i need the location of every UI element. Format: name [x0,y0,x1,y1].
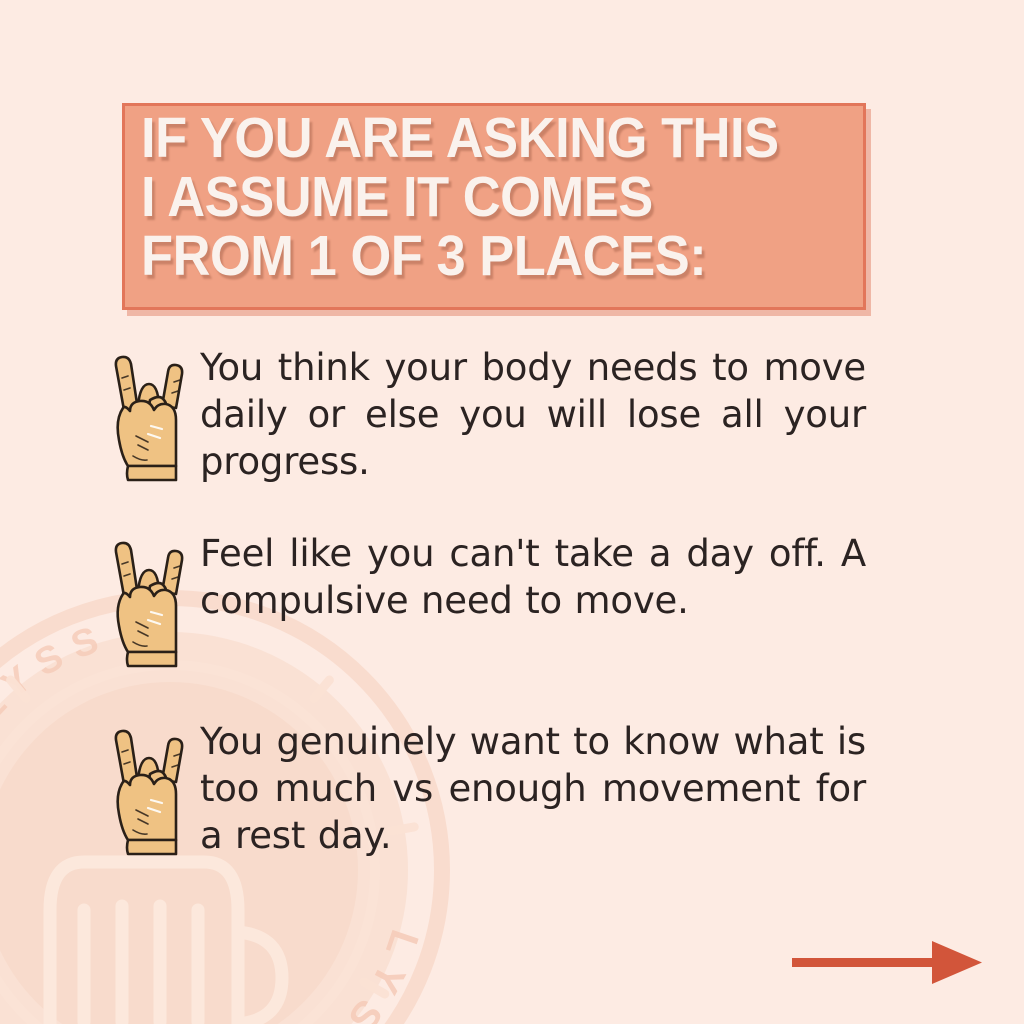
list-item-text: You genuinely want to know what is too m… [200,718,866,859]
sign-of-the-horns-icon [104,534,200,674]
sign-of-the-horns-icon [104,722,200,862]
page-title: IF YOU ARE ASKING THIS I ASSUME IT COMES… [141,109,800,286]
next-slide-arrow[interactable] [790,938,986,988]
list-item-text: You think your body needs to move daily … [200,344,866,485]
arrow-right-icon [790,938,986,988]
slide-canvas: LYSS FITNESS LYSS [0,0,1024,1024]
heading-line-1: IF YOU ARE ASKING THIS [141,109,800,168]
heading-line-2: I ASSUME IT COMES [141,168,800,227]
list-item-text: Feel like you can't take a day off. A co… [200,530,866,624]
fist-bump-icon [50,862,282,1024]
heading-banner: IF YOU ARE ASKING THIS I ASSUME IT COMES… [122,103,866,310]
watermark-inner-text: LYSS [0,615,115,729]
heading-line-3: FROM 1 OF 3 PLACES: [141,227,800,286]
list-item: You think your body needs to move daily … [104,344,866,488]
list-item: You genuinely want to know what is too m… [104,718,866,862]
watermark-outer-text: LYSS FITNESS [15,924,426,1024]
list-item: Feel like you can't take a day off. A co… [104,530,866,674]
sign-of-the-horns-icon [104,348,200,488]
